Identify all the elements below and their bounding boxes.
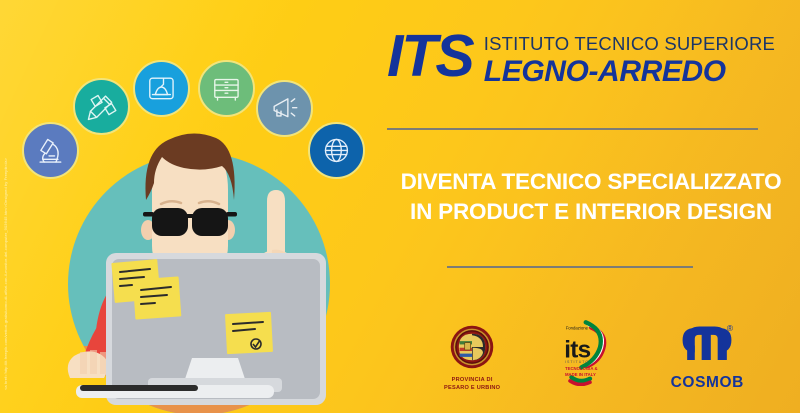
illustration-panel: <a href='http://it.freepik.com/vettori-g… (0, 0, 390, 413)
its-italia-sub-label: ISTITUTO (565, 360, 589, 364)
headline-line-2: IN PRODUCT E INTERIOR DESIGN (382, 197, 800, 227)
pencil-ruler-glyph (85, 90, 118, 123)
microscope-icon (22, 122, 79, 179)
divider-bottom (447, 266, 693, 268)
its-italia-wordmark: its (565, 336, 591, 363)
provincia-crest-icon (450, 325, 494, 369)
cosmob-mark: ® (678, 320, 736, 368)
lockup-text-block: ISTITUTO TECNICO SUPERIORE LEGNO-ARREDO (484, 28, 775, 88)
businessman-illustration (0, 0, 390, 413)
cosmob-wordmark: COSMOB (671, 374, 744, 392)
provincia-caption-line-2: PESARO E URBINO (444, 384, 500, 392)
provincia-pesaro-urbino-logo: PROVINCIA DI PESARO E URBINO (444, 325, 500, 392)
microscope-glyph (34, 134, 67, 167)
divider-top (387, 128, 758, 130)
3d-printer-glyph (145, 72, 178, 105)
pencil-ruler-icon (73, 78, 130, 135)
its-italia-logo: Fondazione its ISTITUTO TECNOLOGIA & MAD… (560, 320, 610, 392)
megaphone-icon (256, 80, 313, 137)
its-italia-top-label: Fondazione (566, 325, 589, 330)
its-italia-tagline-1: TECNOLOGIA & (565, 366, 598, 371)
content-panel: ITS ISTITUTO TECNICO SUPERIORE LEGNO-ARR… (382, 0, 800, 413)
page-title: DIVENTA TECNICO SPECIALIZZATO IN PRODUCT… (382, 167, 800, 227)
its-wordmark: ITS (387, 28, 473, 84)
cosmob-registered-mark: ® (727, 323, 734, 333)
globe-glyph (320, 134, 353, 167)
cabinet-icon (198, 60, 255, 117)
its-italia-tagline-2: MADE IN ITALY (565, 372, 596, 377)
3d-printer-icon (133, 60, 190, 117)
partner-logos: PROVINCIA DI PESARO E URBINO Fondazione … (444, 316, 744, 392)
its-italia-mark: Fondazione its ISTITUTO TECNOLOGIA & MAD… (560, 320, 610, 386)
its-legno-arredo-banner: <a href='http://it.freepik.com/vettori-g… (0, 0, 800, 413)
its-logo-lockup: ITS ISTITUTO TECNICO SUPERIORE LEGNO-ARR… (387, 28, 765, 88)
keyboard (76, 385, 274, 398)
headline-line-1: DIVENTA TECNICO SPECIALIZZATO (382, 167, 800, 197)
globe-icon (308, 122, 365, 179)
legno-arredo-line: LEGNO-ARREDO (484, 55, 775, 88)
cabinet-glyph (210, 72, 243, 105)
istituto-tecnico-superiore-line: ISTITUTO TECNICO SUPERIORE (484, 33, 775, 55)
megaphone-glyph (268, 92, 301, 125)
provincia-caption-line-1: PROVINCIA DI (444, 376, 500, 384)
cosmob-logo: ® COSMOB (671, 320, 744, 392)
